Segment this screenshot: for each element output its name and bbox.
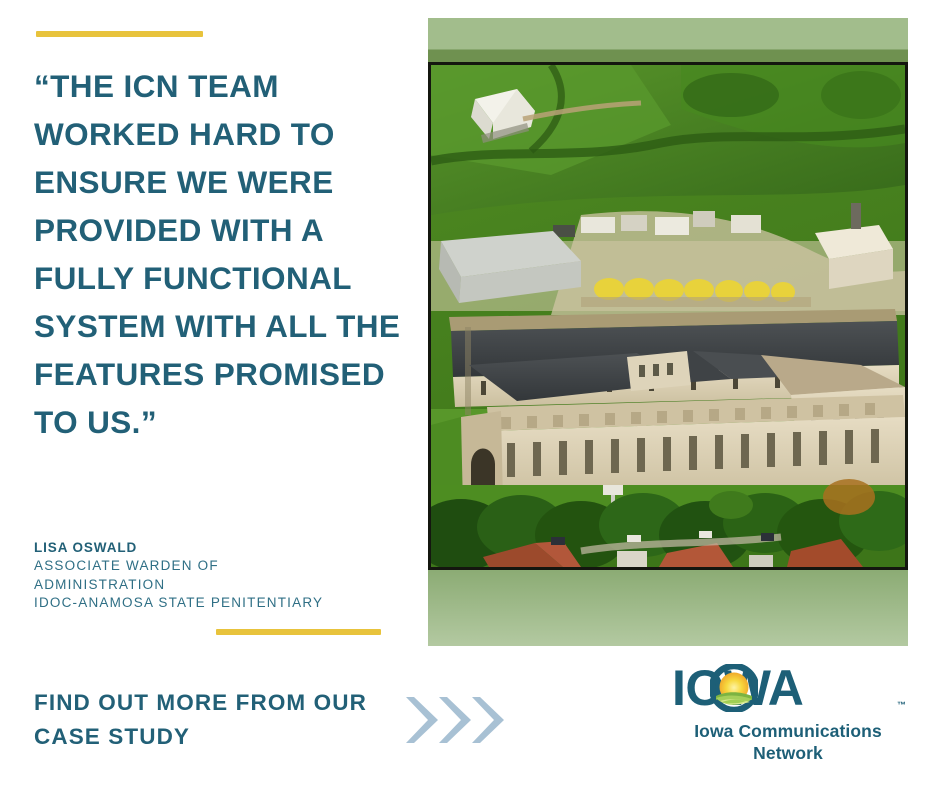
promo-graphic: “THE ICN TEAM WORKED HARD TO ENSURE WE W… xyxy=(0,0,940,788)
icn-tagline: Iowa Communications Network xyxy=(672,720,904,764)
cta-text[interactable]: FIND OUT MORE FROM OUR CASE STUDY xyxy=(34,686,404,754)
pull-quote: “THE ICN TEAM WORKED HARD TO ENSURE WE W… xyxy=(34,62,406,446)
triple-chevron-right-icon[interactable] xyxy=(404,694,514,746)
accent-rule-top xyxy=(36,31,203,37)
attribution-line-1: ASSOCIATE WARDEN OF xyxy=(34,557,424,576)
sunrise-over-fields-icon xyxy=(710,664,758,712)
facility-photo xyxy=(428,62,908,570)
attribution: LISA OSWALD ASSOCIATE WARDEN OF ADMINIST… xyxy=(34,539,424,613)
attribution-name: LISA OSWALD xyxy=(34,539,424,557)
accent-rule-cta xyxy=(216,629,381,635)
icn-tagline-line-2: Network xyxy=(672,742,904,764)
trademark-mark: ™ xyxy=(897,701,906,710)
icn-logo: IOWA xyxy=(672,662,904,764)
attribution-line-3: IDOC-ANAMOSA STATE PENITENTIARY xyxy=(34,594,424,613)
icn-wordmark: IOWA xyxy=(672,662,904,714)
attribution-line-2: ADMINISTRATION xyxy=(34,576,424,595)
icn-tagline-line-1: Iowa Communications xyxy=(672,720,904,742)
